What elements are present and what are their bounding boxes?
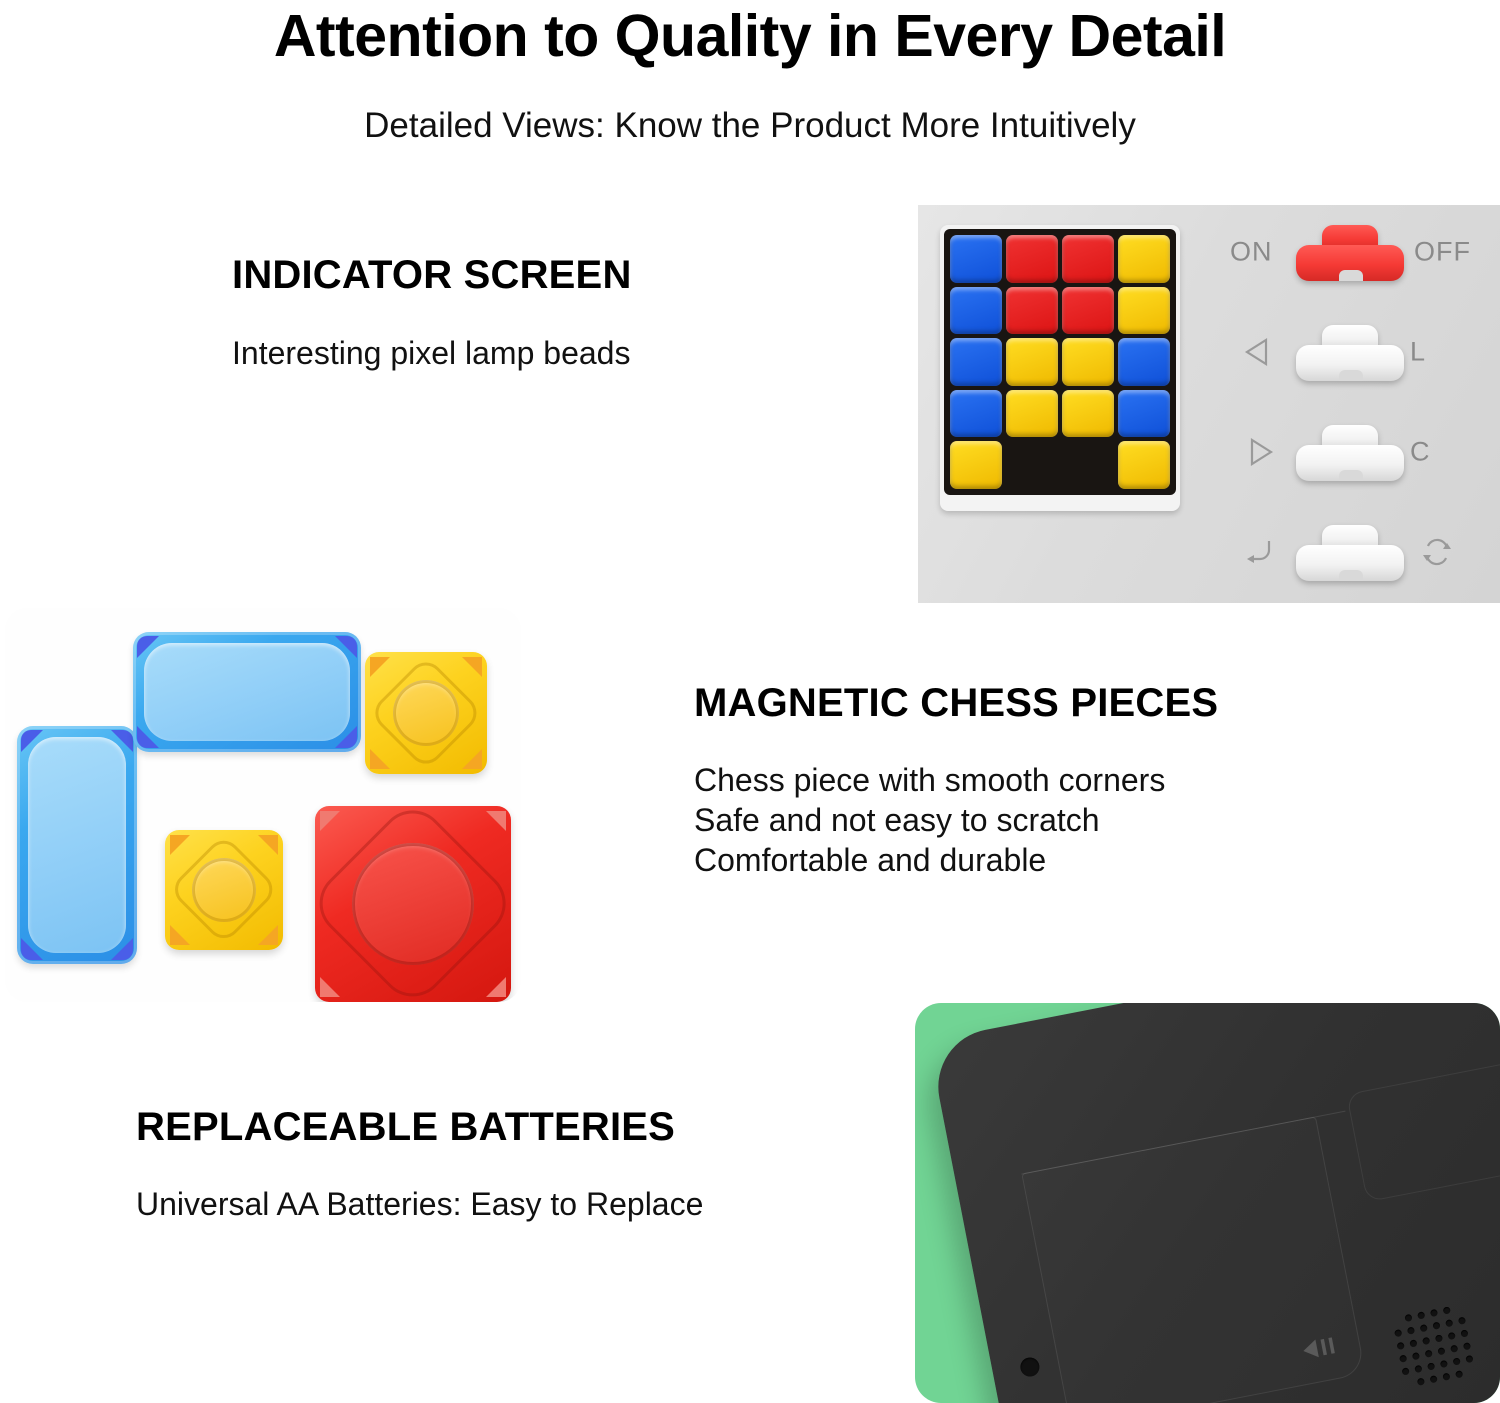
replaceable-batteries-image	[915, 1003, 1500, 1403]
indicator-screen-image: ON OFF L	[918, 205, 1500, 603]
undo-arrow-icon	[1242, 535, 1276, 569]
speaker-hole	[1398, 1354, 1406, 1362]
speaker-hole	[1409, 1339, 1417, 1347]
pixel-lamp-r4-c3	[1062, 390, 1114, 438]
section-body-line: Interesting pixel lamp beads	[232, 333, 630, 373]
control-row-right: C	[1218, 421, 1500, 483]
speaker-hole	[1419, 1324, 1427, 1332]
speaker-hole	[1447, 1331, 1455, 1339]
section-body-line: Safe and not easy to scratch	[694, 800, 1165, 840]
pixel-lamp-r3-c3	[1062, 338, 1114, 386]
pixel-lamp-grid	[944, 229, 1176, 495]
corner-accent	[258, 835, 278, 855]
section-body-line: Comfortable and durable	[694, 840, 1165, 880]
left-button-notch	[1339, 370, 1363, 381]
corner-accent	[370, 749, 390, 769]
label-off: OFF	[1414, 237, 1471, 268]
pixel-lamp-r2-c4	[1118, 287, 1170, 335]
device-rear-shell	[928, 1003, 1500, 1403]
chess-piece-yellow-small-bottom	[165, 830, 283, 950]
medallion-ring	[306, 797, 520, 1002]
speaker-hole	[1460, 1329, 1468, 1337]
speaker-hole	[1401, 1367, 1409, 1375]
led-screen-bezel	[940, 225, 1180, 511]
control-row-left: L	[1218, 321, 1500, 383]
pixel-lamp-r4-c1	[950, 390, 1002, 438]
corner-accent	[258, 925, 278, 945]
corner-accent	[462, 657, 482, 677]
speaker-hole	[1422, 1336, 1430, 1344]
right-button-notch	[1339, 470, 1363, 481]
control-row-reset	[1218, 521, 1500, 583]
pixel-lamp-r3-c1	[950, 338, 1002, 386]
page-subtitle: Detailed Views: Know the Product More In…	[0, 104, 1500, 148]
speaker-hole	[1424, 1349, 1432, 1357]
pixel-lamp-r5-c2	[1006, 441, 1058, 489]
pixel-lamp-r3-c2	[1006, 338, 1058, 386]
speaker-hole	[1426, 1362, 1434, 1370]
control-button-column: ON OFF L	[1218, 205, 1500, 603]
chess-piece-inner	[28, 737, 126, 953]
pixel-lamp-r1-c1	[950, 235, 1002, 283]
chess-piece-medallion	[192, 858, 256, 922]
pixel-lamp-r5-c1	[950, 441, 1002, 489]
speaker-hole	[1450, 1344, 1458, 1352]
right-button[interactable]	[1296, 425, 1404, 481]
speaker-hole	[1394, 1329, 1402, 1337]
speaker-hole	[1452, 1357, 1460, 1365]
pixel-lamp-r5-c4	[1118, 441, 1170, 489]
chess-piece-medallion	[352, 843, 474, 965]
label-l: L	[1410, 337, 1426, 368]
corner-accent	[170, 925, 190, 945]
triangle-right-icon	[1242, 435, 1276, 469]
product-detail-infographic: Attention to Quality in Every Detail Det…	[0, 0, 1500, 1403]
medallion-ring	[368, 655, 484, 771]
refresh-arrows-icon	[1420, 535, 1454, 569]
speaker-hole	[1432, 1321, 1440, 1329]
battery-cover	[1021, 1116, 1365, 1403]
pixel-lamp-r4-c2	[1006, 390, 1058, 438]
pixel-lamp-r1-c3	[1062, 235, 1114, 283]
speaker-hole	[1429, 1375, 1437, 1383]
section-body-line: Chess piece with smooth corners	[694, 760, 1165, 800]
section-title-indicator-screen: INDICATOR SCREEN	[232, 252, 632, 298]
reset-button[interactable]	[1296, 525, 1404, 581]
corner-accent	[462, 749, 482, 769]
speaker-hole	[1404, 1313, 1412, 1321]
pixel-lamp-r2-c1	[950, 287, 1002, 335]
screw-hole	[1019, 1356, 1041, 1378]
speaker-hole	[1442, 1372, 1450, 1380]
medallion-ring	[168, 834, 280, 946]
section-title-magnetic-chess-pieces: MAGNETIC CHESS PIECES	[694, 680, 1218, 726]
control-row-power: ON OFF	[1218, 221, 1500, 283]
section-body-magnetic-chess-pieces: Chess piece with smooth corners Safe and…	[694, 760, 1165, 880]
reset-button-notch	[1339, 570, 1363, 581]
chess-piece-medallion	[393, 680, 459, 746]
speaker-hole	[1454, 1370, 1462, 1378]
label-on: ON	[1230, 237, 1273, 268]
section-body-replaceable-batteries: Universal AA Batteries: Easy to Replace	[136, 1184, 703, 1224]
speaker-hole	[1429, 1308, 1437, 1316]
chess-piece-red-large	[315, 806, 511, 1002]
left-button[interactable]	[1296, 325, 1404, 381]
speaker-hole	[1465, 1355, 1473, 1363]
speaker-hole	[1416, 1377, 1424, 1385]
speaker-hole	[1406, 1326, 1414, 1334]
section-body-line: Universal AA Batteries: Easy to Replace	[136, 1184, 703, 1224]
speaker-hole	[1434, 1334, 1442, 1342]
speaker-hole	[1414, 1364, 1422, 1372]
power-button-notch	[1339, 270, 1363, 281]
pixel-lamp-r2-c3	[1062, 287, 1114, 335]
chess-piece-blue-vertical	[17, 726, 137, 964]
speaker-hole	[1442, 1306, 1450, 1314]
corner-accent	[486, 977, 506, 997]
page-title: Attention to Quality in Every Detail	[0, 4, 1500, 68]
device-side-panel-seam	[1346, 1054, 1500, 1202]
pixel-lamp-r2-c2	[1006, 287, 1058, 335]
speaker-hole	[1396, 1341, 1404, 1349]
speaker-hole	[1417, 1311, 1425, 1319]
label-c: C	[1410, 437, 1431, 468]
speaker-hole	[1462, 1342, 1470, 1350]
chess-piece-inner	[144, 643, 350, 741]
chess-piece-yellow-small-top	[365, 652, 487, 774]
corner-accent	[320, 811, 340, 831]
speaker-hole	[1439, 1359, 1447, 1367]
section-title-replaceable-batteries: REPLACEABLE BATTERIES	[136, 1104, 675, 1150]
section-body-indicator-screen: Interesting pixel lamp beads	[232, 333, 630, 373]
pixel-lamp-r1-c4	[1118, 235, 1170, 283]
corner-accent	[486, 811, 506, 831]
pixel-lamp-r3-c4	[1118, 338, 1170, 386]
speaker-grille	[1380, 1293, 1481, 1394]
power-button[interactable]	[1296, 225, 1404, 281]
chess-piece-blue-horizontal	[133, 632, 361, 752]
corner-accent	[370, 657, 390, 677]
triangle-left-icon	[1242, 335, 1276, 369]
corner-accent	[170, 835, 190, 855]
speaker-hole	[1437, 1347, 1445, 1355]
pixel-lamp-r1-c2	[1006, 235, 1058, 283]
corner-accent	[320, 977, 340, 997]
slide-arrow-icon	[1299, 1333, 1344, 1363]
magnetic-chess-pieces-image	[5, 608, 521, 1002]
pixel-lamp-r4-c4	[1118, 390, 1170, 438]
pixel-lamp-r5-c3	[1062, 441, 1114, 489]
speaker-hole	[1411, 1352, 1419, 1360]
speaker-hole	[1457, 1316, 1465, 1324]
speaker-hole	[1445, 1319, 1453, 1327]
